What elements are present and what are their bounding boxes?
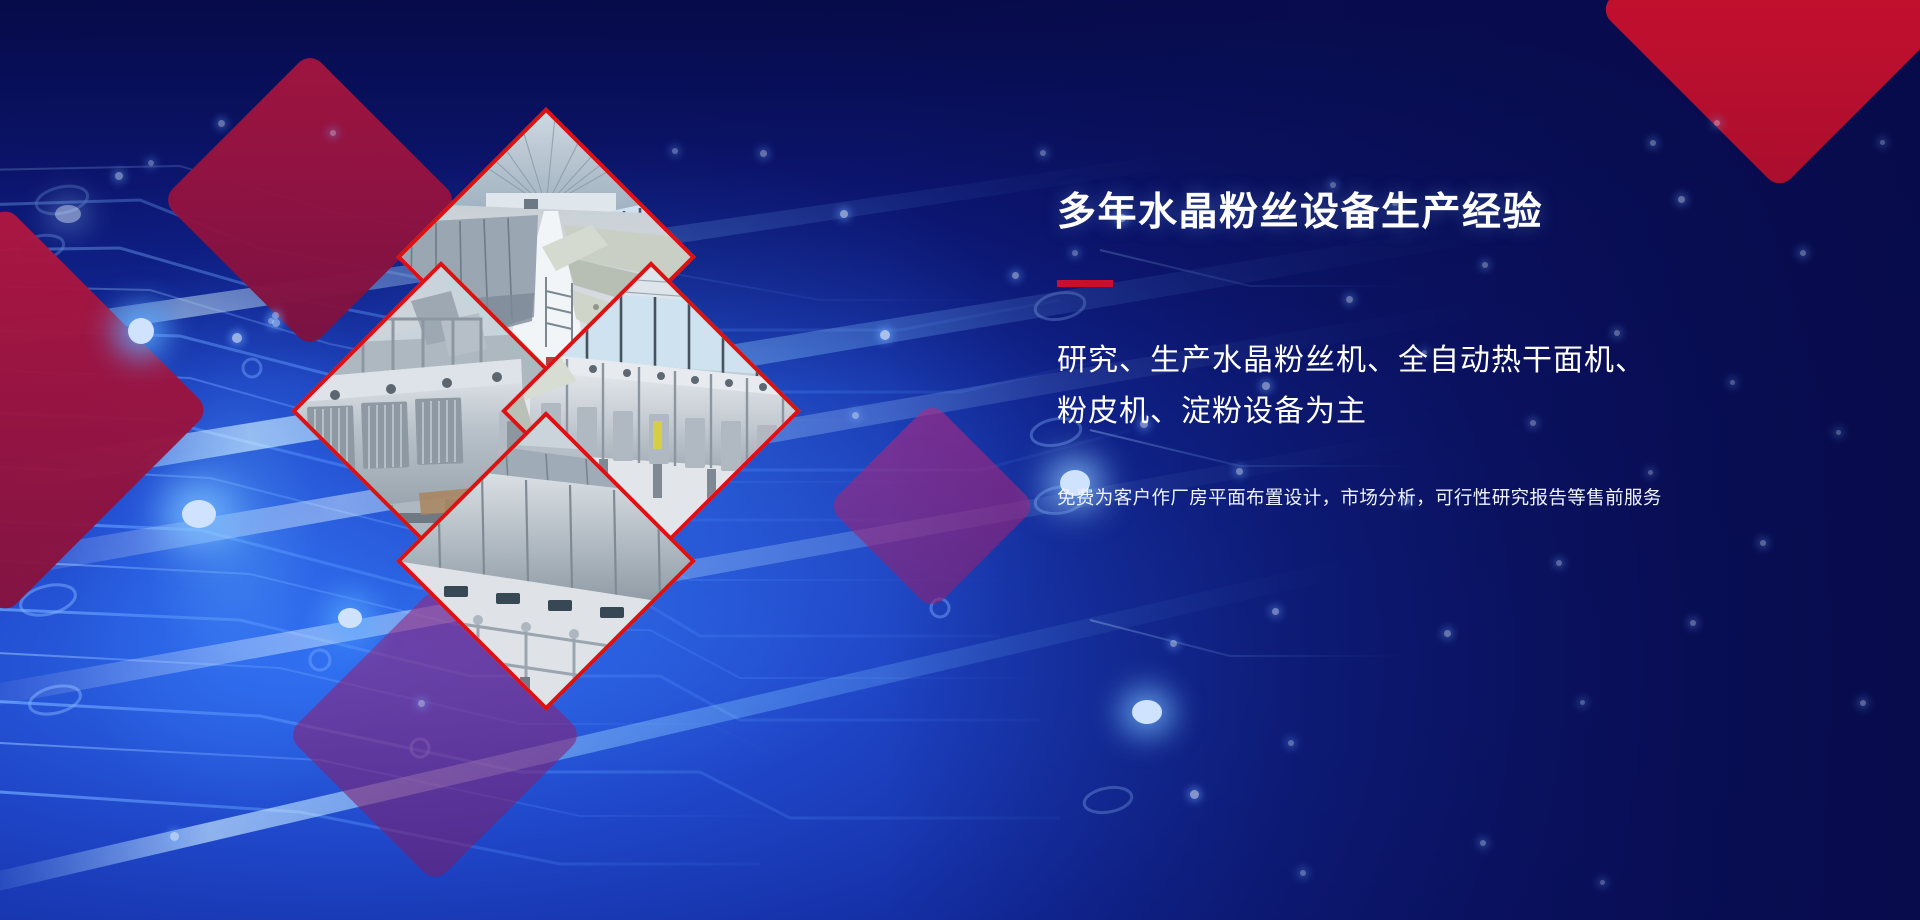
- body-line-2: 粉皮机、淀粉设备为主: [1057, 386, 1857, 438]
- banner-body-text: 研究、生产水晶粉丝机、全自动热干面机、 粉皮机、淀粉设备为主: [1057, 335, 1857, 438]
- decor-diamond-purple-middle: [827, 401, 1036, 610]
- banner-service-note: 免费为客户作厂房平面布置设计，市场分析，可行性研究报告等售前服务: [1057, 484, 1857, 510]
- body-line-1: 研究、生产水晶粉丝机、全自动热干面机、: [1057, 335, 1857, 387]
- decor-diamond-crimson-left: [0, 205, 210, 615]
- decor-diamond-crimson-top-right: [1599, 0, 1920, 190]
- page-title: 多年水晶粉丝设备生产经验: [1057, 190, 1857, 237]
- banner-root: 多年水晶粉丝设备生产经验 研究、生产水晶粉丝机、全自动热干面机、 粉皮机、淀粉设…: [0, 0, 1920, 920]
- banner-text-block: 多年水晶粉丝设备生产经验 研究、生产水晶粉丝机、全自动热干面机、 粉皮机、淀粉设…: [1057, 190, 1857, 510]
- product-photo-cluster: [290, 110, 760, 590]
- title-divider-bar: [1057, 280, 1113, 287]
